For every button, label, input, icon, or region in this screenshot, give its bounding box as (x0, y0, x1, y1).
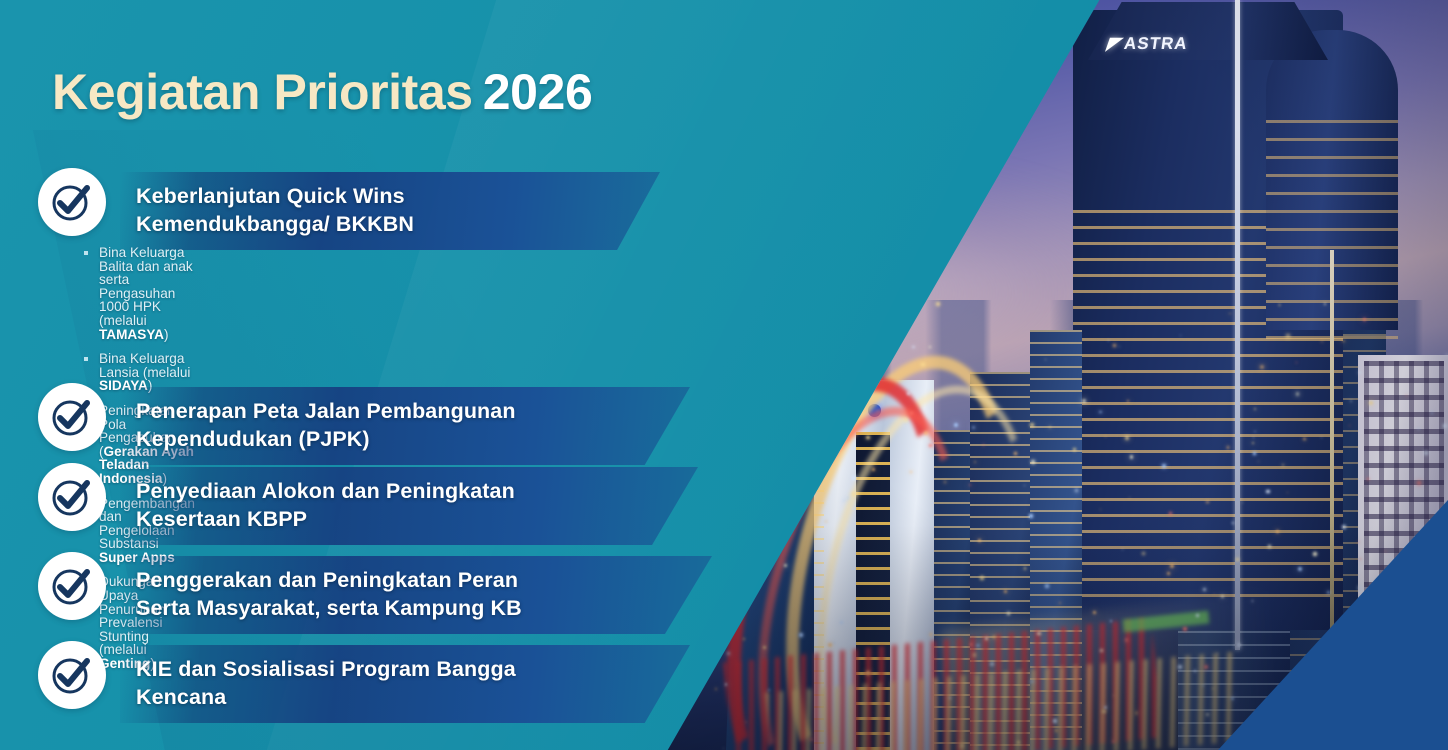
city-light-dot (1296, 362, 1297, 363)
city-light-dot (1170, 564, 1174, 568)
city-light-dot (833, 642, 835, 644)
city-light-dot (763, 646, 766, 649)
city-light-dot (852, 476, 856, 480)
city-light-dot (1162, 464, 1165, 467)
city-light-dot (778, 332, 781, 335)
check-circle-icon (38, 641, 106, 709)
city-light-dot (825, 521, 826, 522)
page-title-main: Kegiatan Prioritas (52, 64, 473, 120)
city-light-dot (775, 414, 777, 416)
astra-building-logo: ◤ASTRA (1107, 34, 1189, 54)
slide-content: Kegiatan Prioritas2026 Keberlanjutan Qui… (0, 0, 760, 750)
city-light-dot (1203, 588, 1206, 591)
tower-spire (1235, 0, 1240, 650)
city-light-dot (866, 671, 870, 675)
check-circle-icon (38, 463, 106, 531)
priority-item-2-title: Penerapan Peta Jalan Pembangunan Kependu… (136, 398, 620, 453)
city-light-dot (1196, 614, 1200, 618)
priority-item-2-band: Penerapan Peta Jalan Pembangunan Kependu… (120, 387, 690, 465)
city-light-dot (1113, 695, 1114, 696)
city-light-dot (1059, 602, 1061, 604)
city-light-dot (1324, 303, 1326, 305)
city-light-dot (1431, 412, 1433, 414)
sub-bullet-item: Bina Keluarga Lansia (melalui SIDAYA) (84, 352, 195, 393)
slide-root: ◤ASTRA Kegiatan Prioritas2026 (0, 0, 1448, 750)
city-light-dot (929, 444, 932, 447)
city-light-dot (921, 363, 925, 367)
page-title: Kegiatan Prioritas2026 (52, 66, 592, 119)
city-light-dot (1100, 509, 1101, 510)
city-light-dot (1167, 572, 1170, 575)
city-light-dot (1127, 400, 1129, 402)
priority-item-1-band: Keberlanjutan Quick Wins Kemendukbangga/… (120, 172, 660, 250)
city-light-dot (794, 432, 798, 436)
city-light-dot (1202, 685, 1204, 687)
city-light-dot (826, 319, 828, 321)
city-light-dot (1360, 558, 1362, 560)
city-light-dot (980, 576, 984, 580)
city-light-dot (1231, 697, 1234, 700)
city-light-dot (1125, 638, 1129, 642)
city-light-dot (1073, 448, 1076, 451)
city-light-dot (804, 460, 808, 464)
city-light-dot (764, 430, 768, 434)
city-light-dot (1037, 632, 1041, 636)
city-light-dot (1385, 551, 1386, 552)
city-light-dot (1359, 371, 1362, 374)
city-light-dot (817, 365, 820, 368)
city-light-dot (978, 539, 981, 542)
priority-item-1-title: Keberlanjutan Quick Wins Kemendukbangga/… (136, 183, 590, 238)
city-light-dot (904, 418, 908, 422)
city-light-dot (1075, 489, 1078, 492)
city-light-dot (1024, 567, 1026, 569)
city-light-dot (1017, 741, 1020, 744)
city-light-dot (778, 395, 779, 396)
city-light-dot (1130, 455, 1133, 458)
city-light-dot (1030, 423, 1034, 427)
city-light-dot (850, 651, 852, 653)
city-light-dot (1298, 567, 1302, 571)
city-light-dot (1286, 334, 1290, 338)
city-light-dot (924, 431, 928, 435)
city-light-dot (1049, 426, 1051, 428)
city-light-dot (910, 412, 913, 415)
city-light-dot (1125, 436, 1129, 440)
city-light-dot (1045, 584, 1049, 588)
city-light-dot (1029, 514, 1033, 518)
priority-item-5-title: KIE dan Sosialisasi Program Bangga Kenca… (136, 656, 620, 711)
city-light-dot (812, 431, 814, 433)
city-light-dot (1221, 595, 1224, 598)
city-light-dot (970, 643, 972, 645)
city-light-dot (852, 492, 856, 496)
city-light-dot (1214, 594, 1216, 596)
city-light-dot (972, 426, 975, 429)
city-light-dot (1169, 512, 1172, 515)
city-light-dot (1424, 451, 1427, 454)
city-light-dot (1253, 437, 1254, 438)
city-light-dot (1180, 335, 1181, 336)
city-light-dot (1112, 740, 1115, 743)
priority-item-3-title: Penyediaan Alokon dan Peningkatan Kesert… (136, 478, 628, 533)
city-light-dot (1253, 452, 1256, 455)
astra-logo-text: ASTRA (1123, 34, 1189, 53)
city-light-dot (1100, 649, 1103, 652)
city-light-dot (1358, 586, 1362, 590)
sub-bullet-item: Bina Keluarga Balita dan anak serta Peng… (84, 246, 195, 341)
city-light-dot (1282, 464, 1284, 466)
city-light-dot (843, 500, 844, 501)
priority-item-3-band: Penyediaan Alokon dan Peningkatan Kesert… (120, 467, 698, 545)
city-light-dot (1183, 627, 1187, 631)
city-light-dot (1443, 424, 1446, 427)
city-light-dot (1099, 411, 1102, 414)
page-title-year: 2026 (483, 64, 593, 120)
city-light-dot (859, 402, 860, 403)
city-light-dot (1268, 545, 1271, 548)
city-light-dot (1014, 452, 1017, 455)
check-circle-icon (38, 168, 106, 236)
city-light-dot (976, 644, 980, 648)
priority-item-4-title: Penggerakan dan Peningkatan Peran Serta … (136, 567, 642, 622)
check-circle-icon (38, 552, 106, 620)
city-light-dot (799, 633, 803, 637)
city-light-dot (762, 301, 765, 304)
city-light-dot (1053, 719, 1057, 723)
city-light-dot (1227, 446, 1230, 449)
city-light-dot (887, 301, 891, 305)
check-circle-icon (38, 383, 106, 451)
city-light-dot (1082, 399, 1086, 403)
city-light-dot (1129, 497, 1130, 498)
city-light-dot (1110, 620, 1112, 622)
city-light-dot (849, 358, 851, 360)
city-light-dot (1327, 591, 1330, 594)
priority-item-4-band: Penggerakan dan Peningkatan Peran Serta … (120, 556, 712, 634)
city-light-dot (983, 444, 984, 445)
city-light-dot (960, 743, 964, 747)
city-light-dot (1367, 478, 1369, 480)
priority-item-5-band: KIE dan Sosialisasi Program Bangga Kenca… (120, 645, 690, 723)
sub-bullet-emphasis: TAMASYA (99, 327, 164, 342)
